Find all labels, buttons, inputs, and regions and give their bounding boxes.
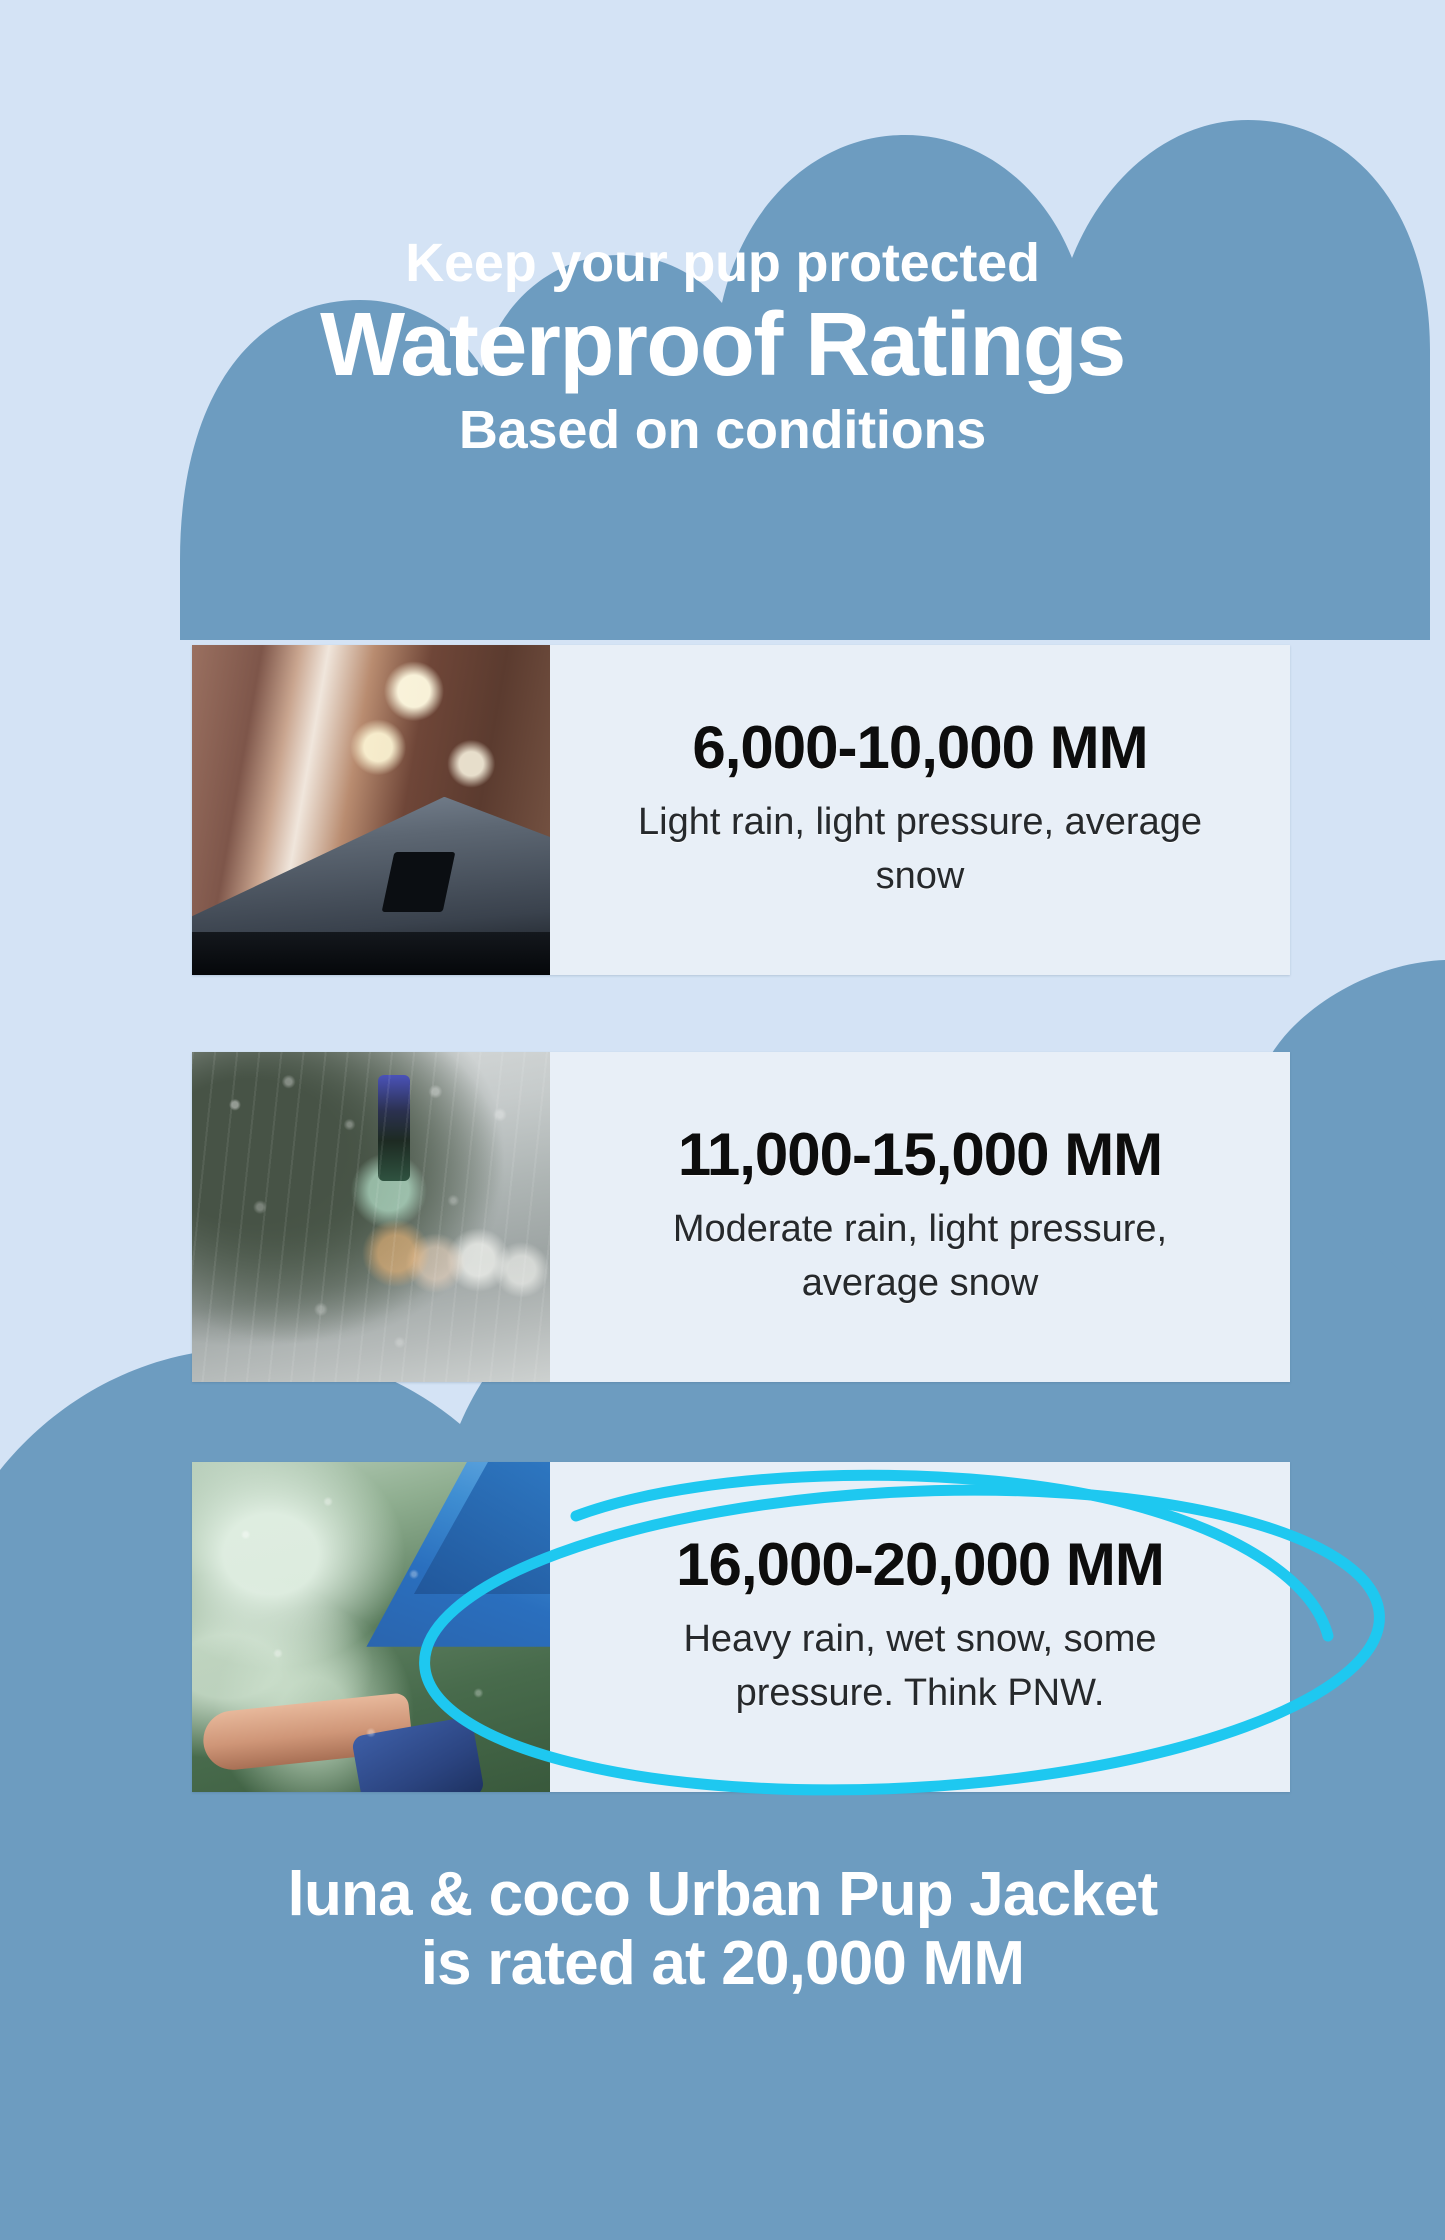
rating-text-2: 11,000-15,000 MM Moderate rain, light pr… bbox=[550, 1052, 1290, 1382]
umbrella-rim-shape bbox=[192, 932, 550, 975]
waterproof-ratings-poster: Keep your pup protected Waterproof Ratin… bbox=[0, 0, 1445, 2240]
rating-text-1: 6,000-10,000 MM Light rain, light pressu… bbox=[550, 645, 1290, 975]
umbrella-city-scene bbox=[192, 645, 550, 975]
rating-range-2: 11,000-15,000 MM bbox=[678, 1125, 1162, 1185]
rating-description-1: Light rain, light pressure, average snow bbox=[600, 796, 1240, 904]
rainy-window-scene bbox=[192, 1052, 550, 1382]
raindrop-overlay bbox=[192, 1052, 550, 1382]
rating-description-3: Heavy rain, wet snow, some pressure. Thi… bbox=[600, 1613, 1240, 1721]
poster-header: Keep your pup protected Waterproof Ratin… bbox=[0, 236, 1445, 457]
rating-range-3: 16,000-20,000 MM bbox=[676, 1535, 1164, 1595]
footer-line-2: is rated at 20,000 MM bbox=[0, 1929, 1445, 1998]
rating-image-2 bbox=[192, 1052, 550, 1382]
header-subkicker: Based on conditions bbox=[0, 403, 1445, 457]
rating-text-3: 16,000-20,000 MM Heavy rain, wet snow, s… bbox=[550, 1462, 1290, 1792]
footer-line-1: luna & coco Urban Pup Jacket bbox=[0, 1860, 1445, 1929]
rating-description-2: Moderate rain, light pressure, average s… bbox=[600, 1203, 1240, 1311]
header-kicker: Keep your pup protected bbox=[0, 236, 1445, 290]
rating-range-1: 6,000-10,000 MM bbox=[692, 718, 1147, 778]
page-title: Waterproof Ratings bbox=[0, 298, 1445, 393]
rating-image-3 bbox=[192, 1462, 550, 1792]
rating-image-1 bbox=[192, 645, 550, 975]
rating-card-1: 6,000-10,000 MM Light rain, light pressu… bbox=[192, 645, 1290, 975]
poster-footer: luna & coco Urban Pup Jacket is rated at… bbox=[0, 1860, 1445, 1999]
rain-splash-overlay bbox=[192, 1462, 550, 1792]
rating-card-3: 16,000-20,000 MM Heavy rain, wet snow, s… bbox=[192, 1462, 1290, 1792]
blue-umbrella-scene bbox=[192, 1462, 550, 1792]
rating-card-2: 11,000-15,000 MM Moderate rain, light pr… bbox=[192, 1052, 1290, 1382]
